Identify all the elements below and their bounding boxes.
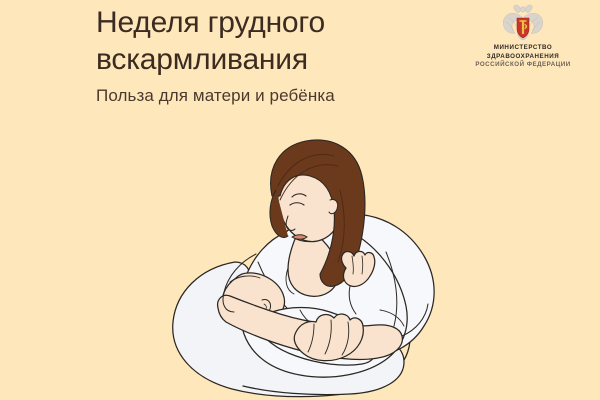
logo-line-3: РОССИЙСКОЙ ФЕДЕРАЦИИ [457, 61, 589, 70]
logo-line-2: ЗДРАВООХРАНЕНИЯ [457, 53, 589, 62]
ministry-of-health-logo: МИНИСТЕРСТВО ЗДРАВООХРАНЕНИЯ РОССИЙСКОЙ … [457, 4, 589, 70]
poster-headline: Неделя грудного вскармливания [96, 4, 406, 78]
poster-subtitle: Польза для матери и ребёнка [96, 85, 335, 107]
emblem-wrapper [457, 4, 589, 44]
poster-canvas: Неделя грудного вскармливания Польза для… [0, 0, 600, 400]
headline-line-1: Неделя грудного [96, 4, 406, 41]
headline-line-2: вскармливания [96, 41, 406, 78]
russian-double-headed-eagle-emblem [501, 4, 545, 44]
logo-line-1: МИНИСТЕРСТВО [457, 44, 589, 53]
